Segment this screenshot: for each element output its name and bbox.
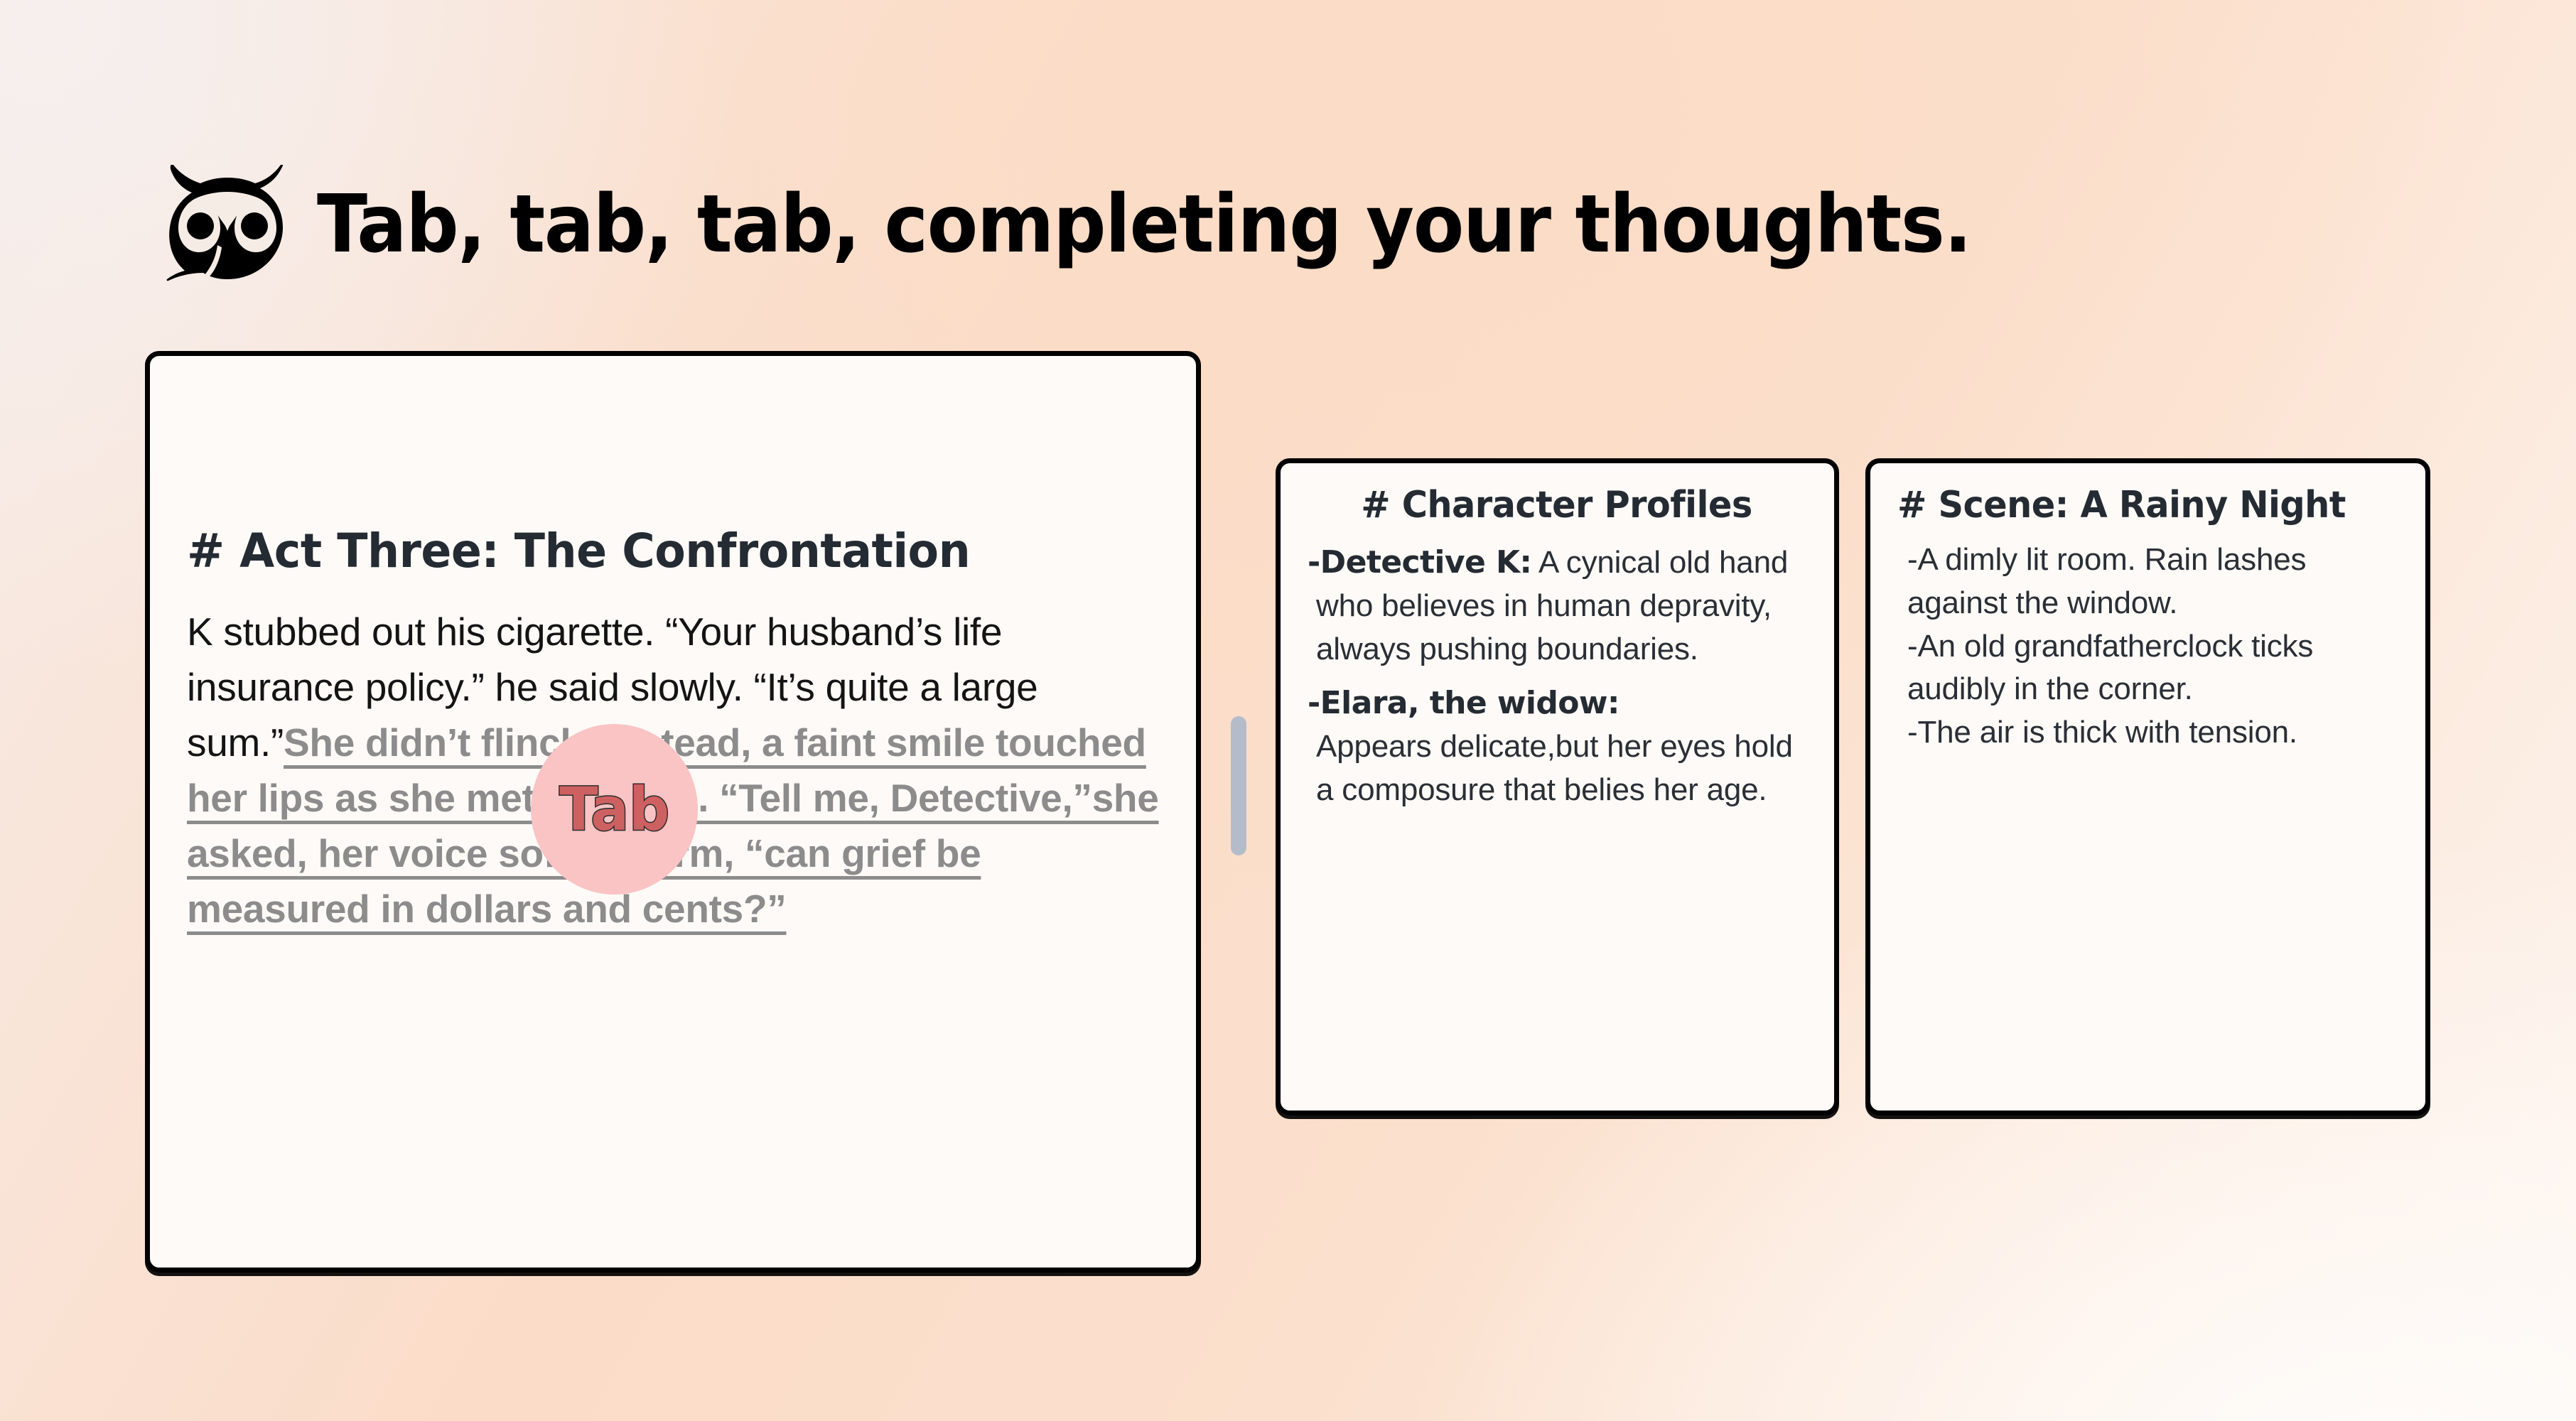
profiles-heading: # Character Profiles [1320, 485, 1794, 526]
scene-heading: # Scene: A Rainy Night [1897, 485, 2376, 526]
list-item: -The air is thick with tension. [1897, 711, 2401, 755]
owl-icon [165, 165, 290, 284]
editor-content: # Act Three: The Confrontation K stubbed… [187, 389, 1159, 937]
list-item: -Detective K: A cynical old hand who bel… [1308, 541, 1806, 671]
list-item: -Elara, the widow: Appears delicate,but … [1308, 682, 1806, 811]
character-profiles-card[interactable]: # Character Profiles -Detective K: A cyn… [1276, 458, 1839, 1115]
page-title: Tab, tab, tab, completing your thoughts. [317, 185, 1971, 264]
list-item: -An old grandfatherclock ticks audibly i… [1897, 625, 2401, 711]
tab-key-hint[interactable]: Tab [531, 724, 698, 895]
tab-key-label: Tab [559, 779, 669, 839]
scene-body: -A dimly lit room. Rain lashes against t… [1897, 539, 2401, 755]
profile-name-elara: -Elara, the widow: [1308, 685, 1620, 721]
profile-desc-elara: Appears delicate,but her eyes hold a com… [1316, 729, 1793, 807]
editor-card[interactable]: # Act Three: The Confrontation K stubbed… [145, 351, 1201, 1273]
page-header: Tab, tab, tab, completing your thoughts. [165, 162, 2096, 287]
profiles-body: -Detective K: A cynical old hand who bel… [1308, 541, 1806, 811]
vertical-scrollbar[interactable] [1231, 716, 1246, 855]
scene-card[interactable]: # Scene: A Rainy Night -A dimly lit room… [1865, 458, 2430, 1115]
list-item: -A dimly lit room. Rain lashes against t… [1897, 539, 2401, 625]
profile-name-detective-k: -Detective K: [1308, 544, 1531, 580]
document-heading: # Act Three: The Confrontation [187, 524, 1120, 578]
